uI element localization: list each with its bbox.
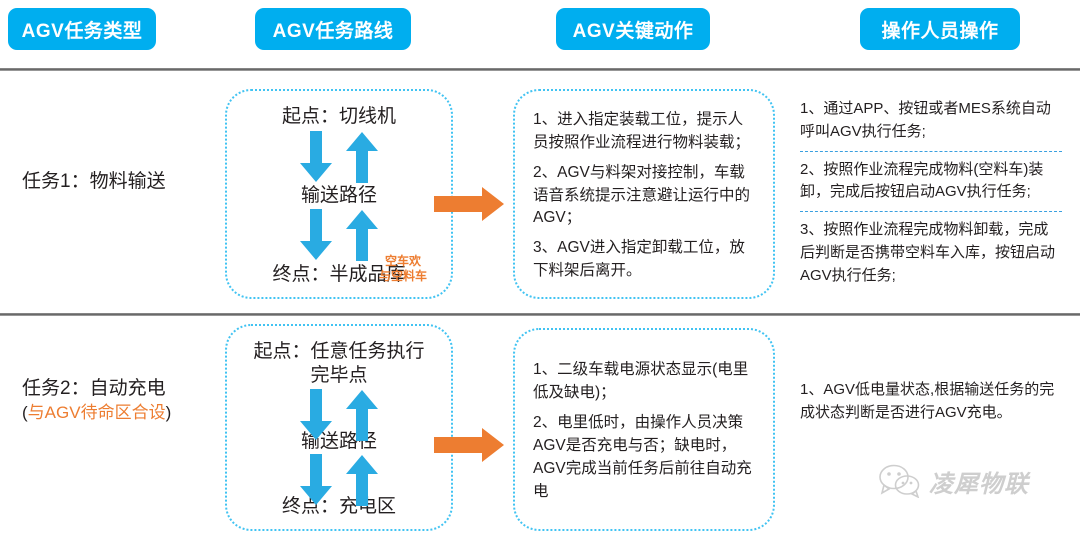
arrow-pair-lower [297, 454, 381, 495]
operator-step-item: 1、AGV低电量状态,根据输送任务的完成状态判断是否进行AGV充电。 [800, 374, 1062, 431]
table-row: 任务1：物料输送 起点：切线机 输送路径 终点 [0, 71, 1080, 313]
arrow-right-icon [434, 187, 504, 221]
route-box: 起点：任意任务执行 完毕点 输送路径 终点：充电区 [225, 324, 453, 531]
operator-steps: 1、AGV低电量状态,根据输送任务的完成状态判断是否进行AGV充电。 [800, 374, 1062, 431]
header-pill-label: AGV关键动作 [573, 16, 694, 43]
operator-step-separator [800, 151, 1062, 152]
arrow-down-icon [299, 389, 333, 441]
task-title: 任务2：自动充电 [22, 376, 222, 402]
arrow-pair-lower [297, 209, 381, 261]
operator-step-item: 2、按照作业流程完成物料(空料车)装卸，完成后按钮启动AGV执行任务; [800, 154, 1062, 211]
operator-step-item: 1、通过APP、按钮或者MES系统自动呼叫AGV执行任务; [800, 93, 1062, 150]
header-pill-key-action: AGV关键动作 [556, 8, 710, 50]
operator-steps: 1、通过APP、按钮或者MES系统自动呼叫AGV执行任务; 2、按照作业流程完成… [800, 93, 1062, 294]
task-subtitle-highlight: 与AGV待命区合设 [28, 403, 166, 422]
paren-close: ) [166, 403, 172, 422]
arrow-up-icon [345, 389, 379, 441]
key-action-box: 1、二级车载电源状态显示(电里低及缺电)； 2、电里低时，由操作人员决策AGV是… [513, 328, 775, 531]
arrow-right-icon [434, 428, 504, 462]
task-label: 任务2：自动充电 (与AGV待命区合设) [22, 376, 222, 425]
key-action-item: 1、二级车载电源状态显示(电里低及缺电)； [533, 359, 757, 405]
arrow-pair-upper [297, 389, 381, 430]
task-label: 任务1：物料输送 [22, 169, 222, 195]
watermark-text: 凌犀物联 [929, 464, 1029, 499]
arrow-down-icon [299, 454, 333, 506]
header-pill-task-type: AGV任务类型 [8, 8, 156, 50]
header-pill-operator-action: 操作人员操作 [860, 8, 1020, 50]
key-action-item: 3、AGV进入指定卸载工位，放下料架后离开。 [533, 237, 757, 283]
arrow-down-icon [299, 131, 333, 183]
header-pill-task-route: AGV任务路线 [255, 8, 411, 50]
task-title: 任务1：物料输送 [22, 169, 222, 195]
route-middle: 输送路径 [301, 184, 377, 208]
route-start: 起点：任意任务执行 完毕点 [253, 340, 424, 389]
arrow-pair-upper [297, 131, 381, 183]
key-action-item: 2、电里低时，由操作人员决策AGV是否充电与否；缺电时，AGV完成当前任务后前往… [533, 412, 757, 504]
arrow-down-icon [299, 209, 333, 261]
key-action-box: 1、进入指定装载工位，提示人员按照作业流程进行物料装载； 2、AGV与料架对接控… [513, 89, 775, 299]
header-pill-label: 操作人员操作 [881, 16, 998, 43]
task-subtitle: (与AGV待命区合设) [22, 402, 222, 425]
wechat-icon [878, 464, 922, 498]
arrow-up-icon [345, 454, 379, 506]
key-action-item: 2、AGV与料架对接控制，车载语音系统提示注意避让运行中的AGV； [533, 162, 757, 231]
key-action-item: 1、进入指定装载工位，提示人员按照作业流程进行物料装载； [533, 109, 757, 155]
header-bar: AGV任务类型 AGV任务路线 AGV关键动作 操作人员操作 [0, 0, 1080, 58]
route-note: 空车欢 与空料车 [372, 254, 434, 284]
operator-step-item: 3、按照作业流程完成物料卸载，完成后判断是否携带空料车入库，按钮启动AGV执行任… [800, 214, 1062, 293]
route-start: 起点：切线机 [282, 105, 396, 129]
arrow-up-icon [345, 131, 379, 183]
header-pill-label: AGV任务类型 [22, 16, 143, 43]
header-pill-label: AGV任务路线 [273, 16, 394, 43]
operator-step-separator [800, 211, 1062, 212]
watermark: 凌犀物联 [878, 458, 1068, 504]
